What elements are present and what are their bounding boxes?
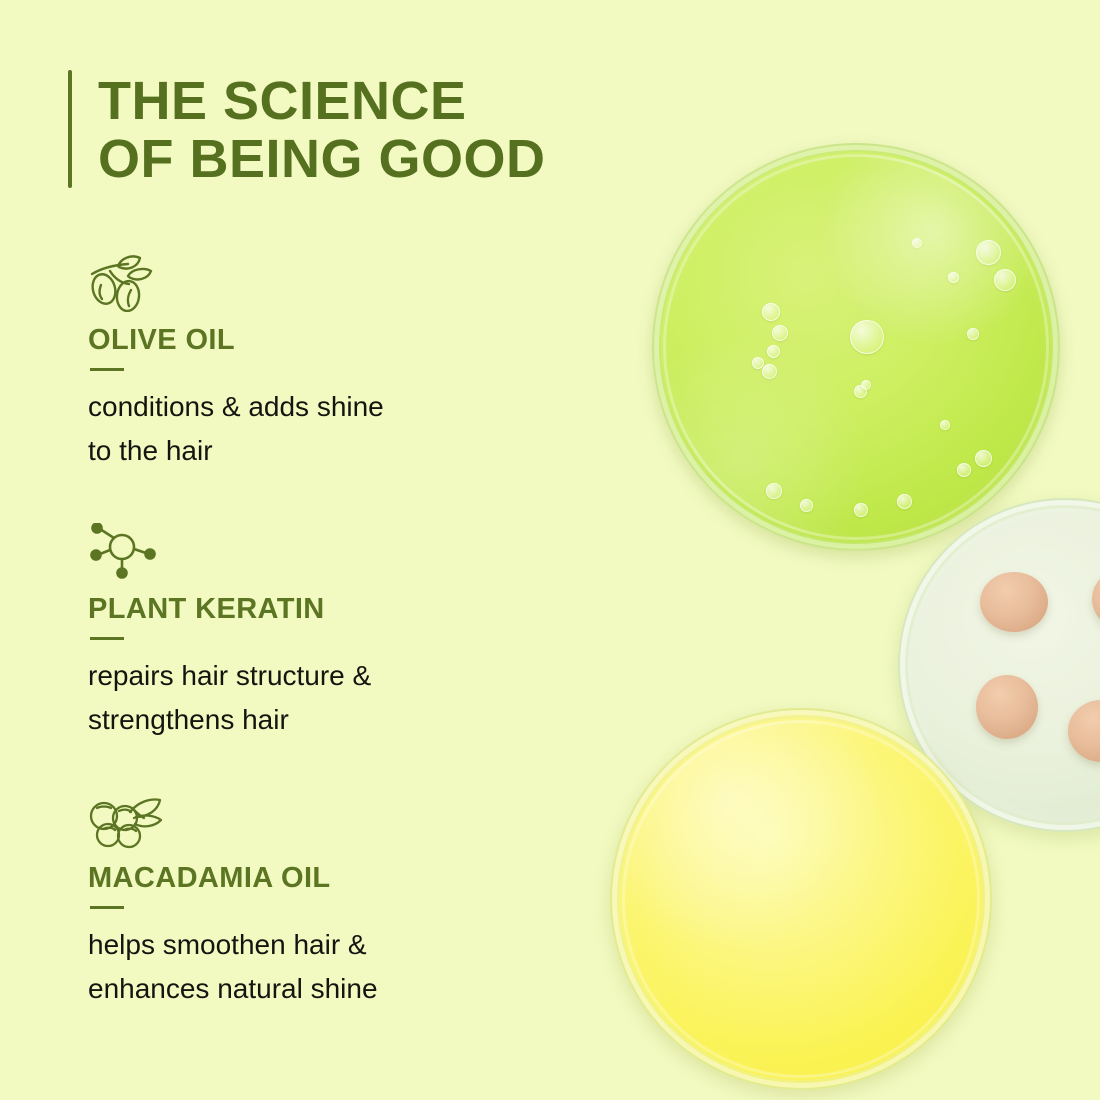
oil-bubble [897,494,912,509]
feature-description: repairs hair structure & strengthens hai… [88,654,558,742]
oil-bubble [767,345,780,358]
feature-name: PLANT KERATIN [88,593,558,625]
oil-bubble [762,364,777,379]
oil-bubble [850,320,884,354]
infographic-canvas: THE SCIENCE OF BEING GOOD OLIVE OIL cond [0,0,1100,1100]
feature-description: conditions & adds shine to the hair [88,385,558,473]
feature-description: helps smoothen hair & enhances natural s… [88,923,558,1011]
macadamia-nut [980,572,1048,632]
page-title: THE SCIENCE OF BEING GOOD [68,70,546,188]
oil-bubble [752,357,764,369]
oil-bubble [912,238,922,248]
oil-bubble [854,503,868,517]
macadamia-nut [1068,700,1100,762]
oil-bubble [772,325,788,341]
feature-plant-keratin: PLANT KERATIN repairs hair structure & s… [88,519,558,742]
oil-bubble [940,420,950,430]
feature-olive-oil: OLIVE OIL conditions & adds shine to the… [88,250,558,473]
oil-bubble [948,272,959,283]
title-text: THE SCIENCE OF BEING GOOD [98,70,546,188]
macadamia-nut [976,675,1038,739]
oil-bubble [861,380,871,390]
feature-underline [90,906,124,909]
oil-bubble [975,450,992,467]
oil-bubble [994,269,1016,291]
feature-list: OLIVE OIL conditions & adds shine to the… [88,250,558,1011]
feature-macadamia-oil: MACADAMIA OIL helps smoothen hair & enha… [88,788,558,1011]
feature-name: OLIVE OIL [88,324,558,356]
keratin-molecule-icon [88,519,558,581]
title-accent-bar [68,70,72,188]
oil-bubble [957,463,971,477]
oil-bubble [967,328,979,340]
green-oil-petri-dish [652,143,1060,551]
oil-bubble [800,499,813,512]
macadamia-nut-icon [88,788,558,850]
oil-bubble [976,240,1001,265]
oil-bubble [854,385,867,398]
feature-name: MACADAMIA OIL [88,862,558,894]
oil-bubble [766,483,782,499]
macadamia-nut [1092,568,1100,630]
oil-bubble [762,303,780,321]
olive-branch-icon [88,250,558,312]
yellow-oil-petri-dish [610,708,992,1090]
macadamia-nut-petri-dish [898,498,1100,832]
feature-underline [90,368,124,371]
feature-underline [90,637,124,640]
